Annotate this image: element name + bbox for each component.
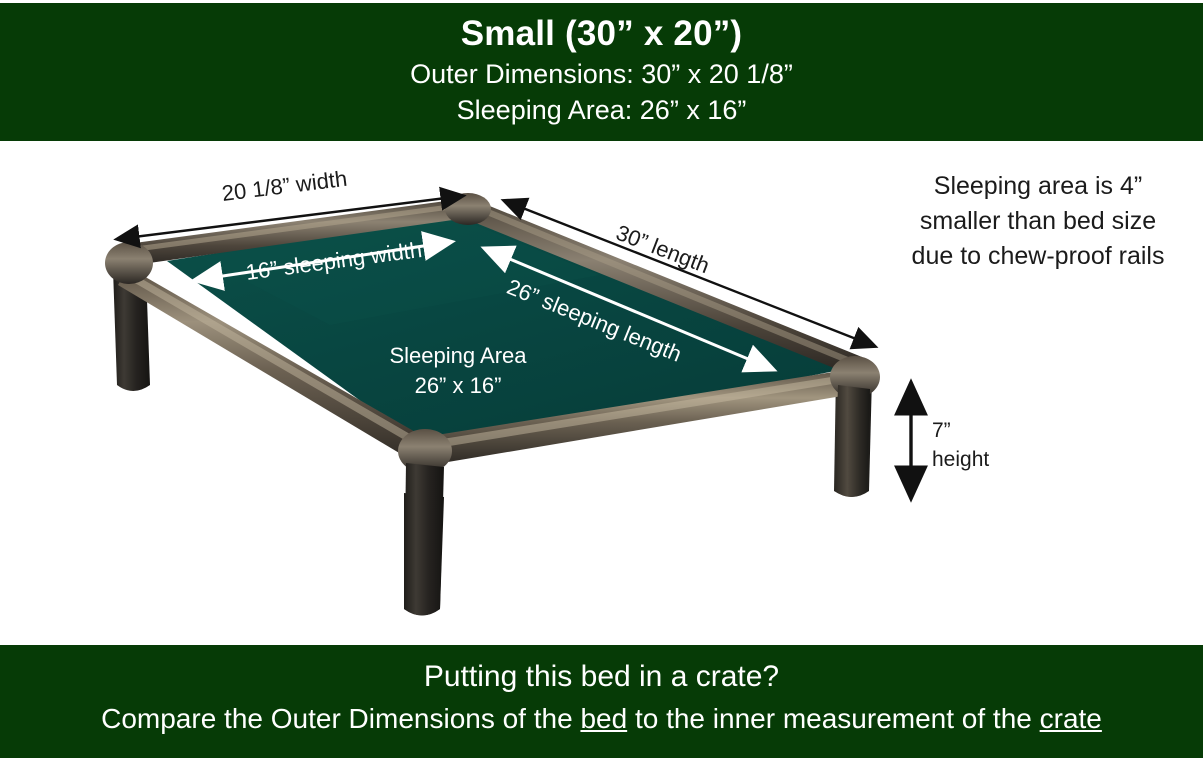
product-dimension-infographic: Small (30” x 20”) Outer Dimensions: 30” … (0, 0, 1203, 758)
chew-proof-rails-note: Sleeping area is 4” smaller than bed siz… (878, 169, 1198, 274)
leg-back-right-front (835, 385, 870, 497)
header-banner: Small (30” x 20”) Outer Dimensions: 30” … (0, 3, 1203, 141)
sleeping-area-measure: 26” x 16” (378, 371, 538, 401)
label-sleeping-area: Sleeping Area 26” x 16” (378, 341, 538, 401)
corner-joint-back-left (105, 242, 153, 284)
compare-word-bed: bed (580, 703, 627, 734)
note-line-3: due to chew-proof rails (878, 239, 1198, 274)
bed-illustration-stage: 20 1/8” width 16” sleeping width 30” len… (0, 141, 1203, 645)
compare-text-mid: to the inner measurement of the (627, 703, 1039, 734)
height-value: 7” (932, 416, 989, 445)
note-line-2: smaller than bed size (878, 204, 1198, 239)
footer-banner: Putting this bed in a crate? Compare the… (0, 645, 1203, 758)
leg-front-left-front (404, 463, 444, 616)
compare-text-pre: Compare the Outer Dimensions of the (101, 703, 580, 734)
crate-compare-line: Compare the Outer Dimensions of the bed … (0, 699, 1203, 739)
height-word: height (932, 445, 989, 474)
note-line-1: Sleeping area is 4” (878, 169, 1198, 204)
sleeping-area-title: Sleeping Area (378, 341, 538, 371)
label-height: 7” height (932, 416, 989, 474)
product-size-title: Small (30” x 20”) (0, 12, 1203, 56)
sleeping-area-line: Sleeping Area: 26” x 16” (0, 92, 1203, 128)
crate-question: Putting this bed in a crate? (0, 655, 1203, 699)
outer-dimensions-line: Outer Dimensions: 30” x 20 1/8” (0, 56, 1203, 92)
compare-word-crate: crate (1040, 703, 1102, 734)
